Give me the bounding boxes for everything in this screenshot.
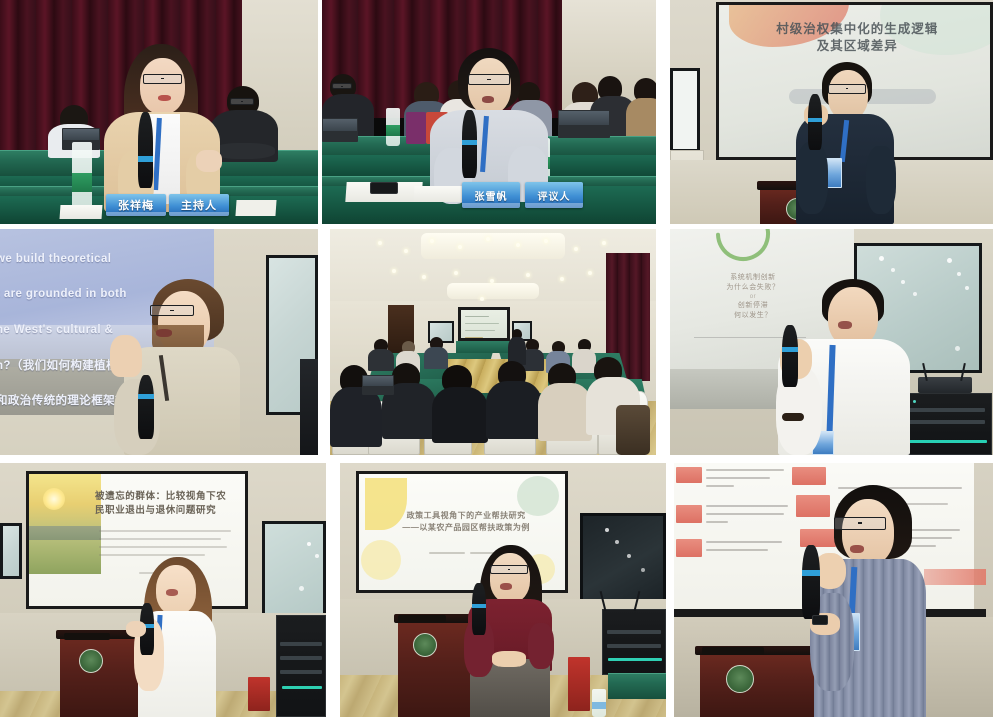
glasses-icon — [828, 84, 866, 94]
photo-row3-col1[interactable]: 被遗忘的群体：比较视角下农 民职业退出与退休问题研究 — [0, 463, 326, 717]
slide-card — [676, 539, 702, 557]
nameplate-role: 主持人 — [169, 194, 229, 216]
photo-row1-col2[interactable]: 张雪帆 评议人 — [322, 0, 656, 224]
glasses-icon — [468, 74, 510, 85]
projection-screen — [458, 307, 510, 341]
slide-line-3: or — [688, 293, 818, 301]
microphone — [138, 375, 154, 439]
photo-row1-col1[interactable]: 张祥梅 主持人 — [0, 0, 318, 224]
glasses-icon — [490, 565, 528, 574]
trash-bin — [248, 677, 270, 711]
slide-line-1: we build theoretical — [0, 251, 206, 269]
slide-line-1: 系统机制创新 — [688, 273, 818, 283]
speaker-head — [828, 287, 878, 347]
whiteboard — [0, 523, 22, 579]
projection-screen: 被遗忘的群体：比较视角下农 民职业退出与退休问题研究 — [26, 471, 248, 609]
nameplate-name-text: 张祥梅 — [118, 197, 154, 213]
slide-card — [796, 495, 830, 517]
photo-row2-col2[interactable] — [330, 229, 656, 455]
equipment-rack — [276, 615, 326, 717]
speaker-head — [828, 70, 868, 120]
microphone — [782, 325, 798, 387]
slide-line-2: 为什么会失败？ — [688, 283, 818, 293]
microphone — [808, 94, 822, 150]
nameplate-role-text: 评议人 — [538, 188, 571, 203]
photo-row2-col3[interactable]: 2 系统机制创新 为什么会失败？ or 创新停滞 何以发生？ — [670, 229, 993, 455]
slide-card — [800, 529, 836, 547]
nameplate-name: 张雪帆 — [462, 182, 520, 208]
slide-line-5: 何以发生？ — [688, 311, 818, 321]
microphone — [802, 545, 820, 619]
nameplate-role-text: 主持人 — [181, 197, 217, 213]
speaker-head — [468, 58, 511, 114]
slide-text: 系统机制创新 为什么会失败？ or 创新停滞 何以发生？ — [688, 273, 818, 321]
photo-row3-col2[interactable]: 政策工具视角下的产业帮扶研究 ——以某农产品园区帮扶政策为例 — [340, 463, 666, 717]
slide-card — [792, 467, 826, 485]
donut-chart-icon — [712, 229, 774, 265]
photo-collage: 张祥梅 主持人 — [0, 0, 993, 717]
slide-card — [676, 505, 702, 523]
photo-row3-col3[interactable] — [674, 463, 993, 717]
slide-title: 被遗忘的群体：比较视角下农 民职业退出与退休问题研究 — [95, 490, 239, 519]
clicker — [812, 615, 828, 625]
speaker-head — [140, 58, 185, 114]
whiteboard — [262, 521, 326, 625]
nameplate-name-text: 张雪帆 — [475, 188, 508, 203]
glasses-icon — [150, 305, 194, 316]
smartphone — [370, 182, 398, 194]
glasses-icon — [834, 517, 886, 530]
photo-row1-col3[interactable]: 村级治权集中化的生成逻辑 及其区域差异 — [670, 0, 993, 224]
equipment-rack — [602, 609, 666, 675]
water-bottle — [72, 142, 92, 210]
nameplate-role: 评议人 — [525, 182, 583, 208]
whiteboard — [580, 513, 666, 609]
slide-number: 2 — [732, 229, 756, 233]
slide-line-4: 创新停滞 — [688, 301, 818, 311]
trash-bin — [568, 657, 590, 711]
microphone — [472, 583, 486, 635]
microphone — [462, 110, 477, 178]
slide-title: 村级治权集中化的生成逻辑 及其区域差异 — [735, 21, 979, 55]
slide-title: 政策工具视角下的产业帮扶研究 ——以某农产品园区帮扶政策为例 — [380, 510, 553, 535]
speaker-head — [490, 553, 530, 603]
photo-row2-col1[interactable]: we build theoretical t are grounded in b… — [0, 229, 318, 455]
glasses-icon — [143, 74, 182, 84]
slide-card — [676, 467, 702, 483]
speaker-head — [842, 499, 894, 565]
nameplate-name: 张祥梅 — [106, 194, 166, 216]
whiteboard — [670, 68, 700, 152]
microphone — [138, 112, 153, 188]
